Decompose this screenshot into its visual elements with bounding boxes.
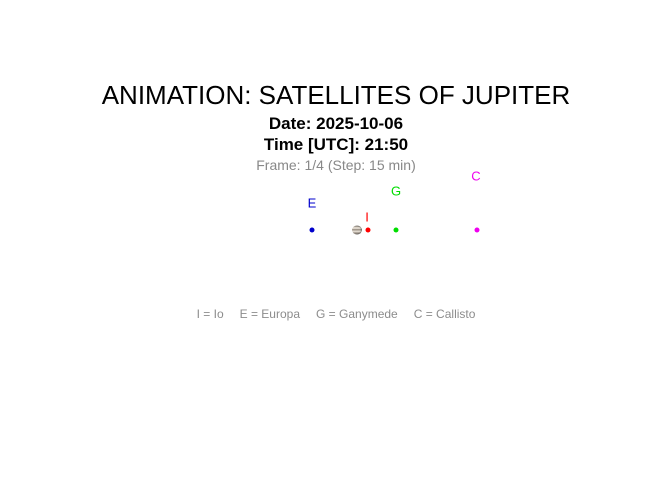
sky-plot: EIGC [0, 0, 672, 480]
animation-canvas: ANIMATION: SATELLITES OF JUPITER Date: 2… [0, 0, 672, 480]
moon-marker-callisto [475, 228, 480, 233]
moon-marker-io [366, 228, 371, 233]
moon-label-ganymede: G [391, 185, 401, 198]
moon-label-io: I [365, 211, 369, 224]
moon-marker-europa [310, 228, 315, 233]
moon-marker-ganymede [394, 228, 399, 233]
legend-entry: C = Callisto [414, 307, 476, 321]
legend: I = IoE = EuropaG = GanymedeC = Callisto [0, 307, 672, 321]
legend-entry: I = Io [197, 307, 224, 321]
jupiter-disk [352, 226, 362, 235]
moon-label-europa: E [308, 197, 317, 210]
legend-entry: G = Ganymede [316, 307, 398, 321]
legend-entry: E = Europa [240, 307, 300, 321]
moon-label-callisto: C [471, 170, 480, 183]
